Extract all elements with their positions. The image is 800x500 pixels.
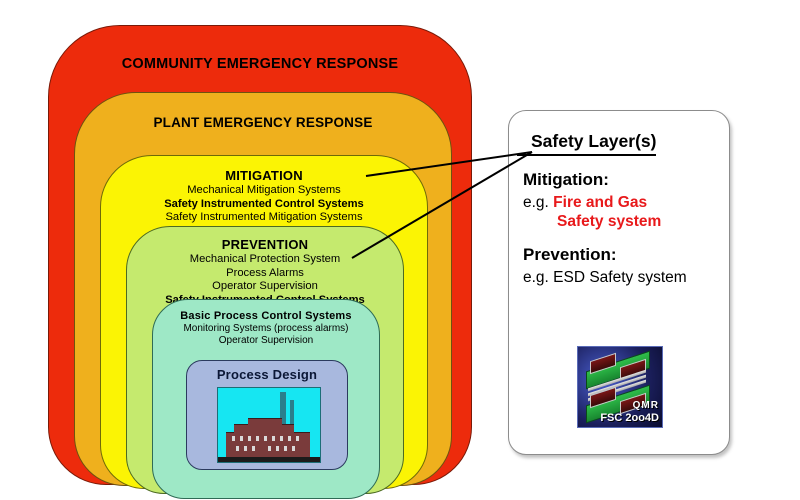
panel-mitigation-eg-line1: Fire and Gas [553, 194, 647, 211]
layer-basic-process-control-systems[interactable]: Basic Process Control Systems Monitoring… [152, 299, 380, 499]
device-label-qmr: QMR [633, 400, 659, 411]
process-plant-image [217, 387, 321, 463]
layer-title-process-design: Process Design [187, 361, 347, 382]
panel-mitigation-block: Mitigation: e.g. Fire and Gas Safety sys… [509, 170, 729, 231]
layer-line: Safety Instrumented Control Systems [101, 198, 427, 212]
layer-prevention[interactable]: PREVENTION Mechanical Protection System … [126, 226, 404, 494]
diagram-canvas: COMMUNITY EMERGENCY RESPONSE PLANT EMERG… [0, 0, 800, 500]
panel-prevention-heading: Prevention: [523, 245, 729, 265]
layer-lines-mitigation: Mechanical Mitigation Systems Safety Ins… [101, 184, 427, 225]
layer-mitigation[interactable]: MITIGATION Mechanical Mitigation Systems… [100, 155, 428, 489]
panel-title: Safety Layer(s) [517, 119, 656, 156]
layer-plant-emergency-response[interactable]: PLANT EMERGENCY RESPONSE MITIGATION Mech… [74, 92, 452, 486]
layer-line: Operator Supervision [153, 335, 379, 347]
device-label-fsc: FSC 2oo4D [600, 412, 659, 424]
layer-title-plant-emergency-response: PLANT EMERGENCY RESPONSE [75, 93, 451, 130]
layer-line: Mechanical Protection System [127, 253, 403, 267]
panel-mitigation-eg-prefix: e.g. [523, 194, 549, 211]
layer-line: Operator Supervision [127, 280, 403, 294]
panel-mitigation-example: e.g. Fire and Gas Safety system [523, 193, 729, 231]
panel-mitigation-eg-line2: Safety system [523, 212, 729, 231]
panel-prevention-eg-value: ESD Safety system [553, 269, 687, 286]
layer-line: Monitoring Systems (process alarms) [153, 323, 379, 335]
layer-community-emergency-response[interactable]: COMMUNITY EMERGENCY RESPONSE PLANT EMERG… [48, 25, 472, 485]
layer-title-community-emergency-response: COMMUNITY EMERGENCY RESPONSE [49, 26, 471, 72]
panel-mitigation-heading: Mitigation: [523, 170, 729, 190]
panel-prevention-example: e.g. ESD Safety system [523, 268, 729, 287]
layer-line: Safety Instrumented Mitigation Systems [101, 211, 427, 225]
qmr-controller-image: QMR FSC 2oo4D [577, 346, 663, 428]
layer-line: Mechanical Mitigation Systems [101, 184, 427, 198]
layer-title-basic-process-control-systems: Basic Process Control Systems [153, 300, 379, 322]
layer-title-prevention: PREVENTION [127, 227, 403, 252]
panel-prevention-eg-prefix: e.g. [523, 269, 549, 286]
layer-title-mitigation: MITIGATION [101, 156, 427, 183]
layer-line: Process Alarms [127, 267, 403, 281]
panel-prevention-block: Prevention: e.g. ESD Safety system [509, 245, 729, 287]
layer-lines-bpcs: Monitoring Systems (process alarms) Oper… [153, 323, 379, 347]
layer-process-design[interactable]: Process Design [186, 360, 348, 470]
safety-layers-panel[interactable]: Safety Layer(s) Mitigation: e.g. Fire an… [508, 110, 730, 455]
